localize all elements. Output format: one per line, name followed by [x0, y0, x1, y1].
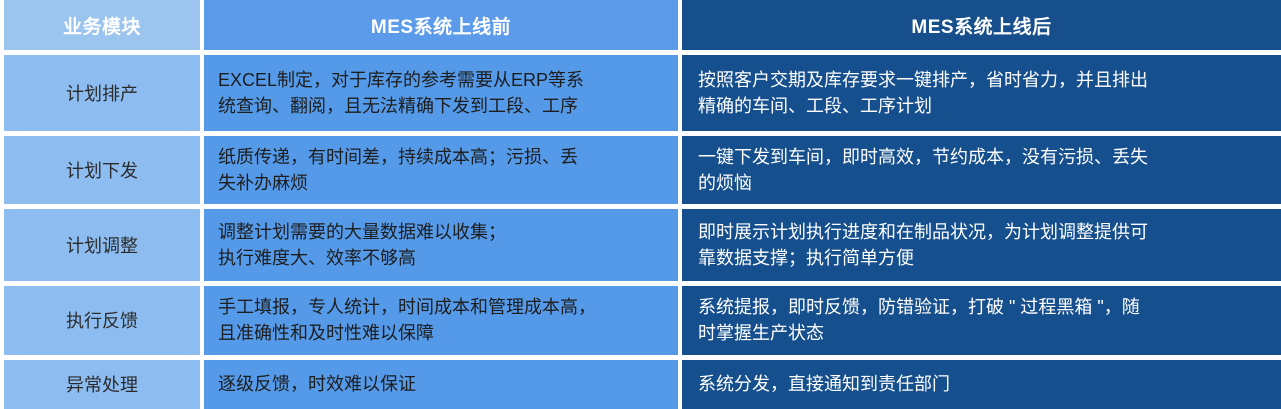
row-module-label: 执行反馈: [66, 307, 138, 333]
table-row: 执行反馈 手工填报，专人统计，时间成本和管理成本高， 且准确性和及时性难以保障 …: [0, 286, 1281, 355]
row-module-label: 计划下发: [66, 157, 138, 183]
row-after-text: 系统提报，即时反馈，防错验证，打破 " 过程黑箱 "，随 时掌握生产状态: [698, 294, 1140, 346]
row-module-cell: 计划排产: [4, 55, 200, 131]
row-after-text: 即时展示计划执行进度和在制品状况，为计划调整提供可 靠数据支撑；执行简单方便: [698, 219, 1148, 271]
table-row: 计划排产 EXCEL制定，对于库存的参考需要从ERP等系 统查询、翻阅，且无法精…: [0, 55, 1281, 131]
header-cell-module: 业务模块: [4, 0, 200, 50]
row-before-text: 调整计划需要的大量数据难以收集； 执行难度大、效率不够高: [218, 219, 506, 271]
row-before-cell: EXCEL制定，对于库存的参考需要从ERP等系 统查询、翻阅，且无法精确下发到工…: [204, 55, 678, 131]
row-after-text: 系统分发，直接通知到责任部门: [698, 371, 950, 397]
row-after-cell: 一键下发到车间，即时高效，节约成本，没有污损、丢失 的烦恼: [682, 136, 1281, 204]
mes-comparison-table: 业务模块 MES系统上线前 MES系统上线后 计划排产 EXCEL制定，对于库存…: [0, 0, 1281, 409]
header-label-after: MES系统上线后: [911, 12, 1051, 39]
row-after-cell: 即时展示计划执行进度和在制品状况，为计划调整提供可 靠数据支撑；执行简单方便: [682, 209, 1281, 280]
row-module-cell: 计划调整: [4, 209, 200, 280]
header-label-module: 业务模块: [63, 12, 141, 39]
table-row: 异常处理 逐级反馈，时效难以保证 系统分发，直接通知到责任部门: [0, 360, 1281, 409]
row-before-text: 手工填报，专人统计，时间成本和管理成本高， 且准确性和及时性难以保障: [218, 294, 596, 346]
row-after-text: 一键下发到车间，即时高效，节约成本，没有污损、丢失 的烦恼: [698, 144, 1148, 196]
table-row: 计划调整 调整计划需要的大量数据难以收集； 执行难度大、效率不够高 即时展示计划…: [0, 209, 1281, 280]
row-after-text: 按照客户交期及库存要求一键排产，省时省力，并且排出 精确的车间、工段、工序计划: [698, 67, 1148, 119]
header-cell-after: MES系统上线后: [682, 0, 1281, 50]
row-before-cell: 手工填报，专人统计，时间成本和管理成本高， 且准确性和及时性难以保障: [204, 286, 678, 355]
row-module-label: 计划排产: [66, 80, 138, 106]
row-module-label: 计划调整: [66, 232, 138, 258]
table-header-row: 业务模块 MES系统上线前 MES系统上线后: [0, 0, 1281, 50]
row-module-cell: 执行反馈: [4, 286, 200, 355]
row-after-cell: 系统提报，即时反馈，防错验证，打破 " 过程黑箱 "，随 时掌握生产状态: [682, 286, 1281, 355]
header-cell-before: MES系统上线前: [204, 0, 678, 50]
row-after-cell: 按照客户交期及库存要求一键排产，省时省力，并且排出 精确的车间、工段、工序计划: [682, 55, 1281, 131]
row-after-cell: 系统分发，直接通知到责任部门: [682, 360, 1281, 409]
row-module-cell: 异常处理: [4, 360, 200, 409]
row-before-text: EXCEL制定，对于库存的参考需要从ERP等系 统查询、翻阅，且无法精确下发到工…: [218, 67, 584, 119]
row-before-cell: 调整计划需要的大量数据难以收集； 执行难度大、效率不够高: [204, 209, 678, 280]
row-module-cell: 计划下发: [4, 136, 200, 204]
table-row: 计划下发 纸质传递，有时间差，持续成本高；污损、丢 失补办麻烦 一键下发到车间，…: [0, 136, 1281, 204]
row-module-label: 异常处理: [66, 371, 138, 397]
row-before-cell: 逐级反馈，时效难以保证: [204, 360, 678, 409]
header-label-before: MES系统上线前: [371, 12, 511, 39]
row-before-text: 纸质传递，有时间差，持续成本高；污损、丢 失补办麻烦: [218, 144, 578, 196]
row-before-cell: 纸质传递，有时间差，持续成本高；污损、丢 失补办麻烦: [204, 136, 678, 204]
row-before-text: 逐级反馈，时效难以保证: [218, 371, 416, 397]
